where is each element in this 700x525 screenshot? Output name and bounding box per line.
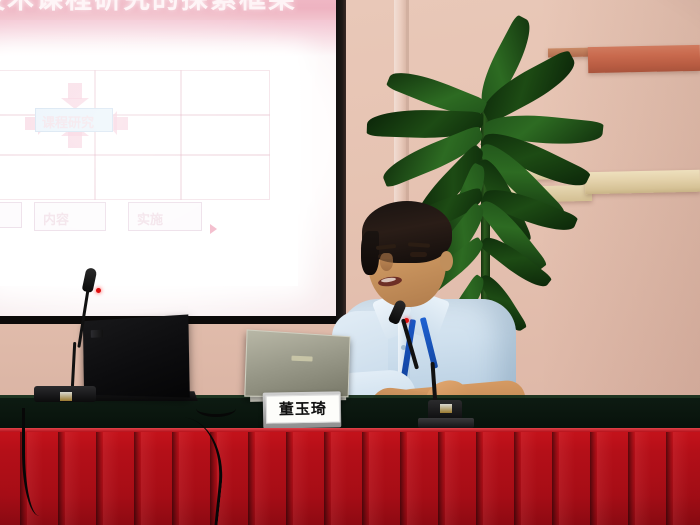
presenter-hair-side: [361, 231, 379, 275]
slide-title: 技术课程研究的探索框架: [0, 0, 297, 15]
nameplate-text: 董玉琦: [279, 401, 327, 417]
wall-band-red: [588, 45, 700, 73]
slide-bottom-label: 实施: [137, 209, 163, 228]
slide-light-wash: [0, 20, 336, 56]
nameplate-holder: 董玉琦: [263, 391, 342, 428]
slide-bottom-box: 实施: [128, 202, 202, 231]
thinkpad-logo-icon: [91, 330, 103, 338]
projection-screen: 技术课程研究的探索框架 课程研究: [0, 0, 336, 316]
presenter-eye-right: [410, 252, 427, 257]
cable: [196, 400, 236, 417]
slide-grid-cell: [0, 154, 96, 200]
wall-band-tan: [585, 170, 700, 195]
nameplate: 董玉琦: [266, 394, 340, 423]
slide-grid-cell: [180, 70, 270, 116]
microphone-led-icon: [96, 288, 101, 293]
red-tablecloth: [0, 428, 700, 525]
presenter-nose: [380, 253, 393, 271]
slide-diagram: 课程研究 内容 实施: [0, 56, 298, 286]
slide-play-triangle-icon: [210, 224, 217, 234]
slide-center-label: 课程研究: [42, 112, 94, 131]
microphone-base-plate: [418, 418, 474, 428]
slide-bottom-box: [0, 202, 22, 228]
microphone-base-badge: [60, 392, 72, 401]
microphone-base-badge: [440, 404, 452, 413]
slide-bottom-box: 内容: [34, 202, 106, 231]
black-laptop[interactable]: [83, 314, 190, 397]
table-top: [0, 398, 700, 432]
tablecloth-top-edge: [0, 428, 700, 432]
photo-scene: 技术课程研究的探索框架 课程研究: [0, 0, 700, 525]
slide-grid-cell: [180, 154, 270, 200]
slide-title-bar: 技术课程研究的探索框架: [0, 0, 336, 20]
slide-bottom-label: 内容: [43, 209, 69, 228]
slide-grid-cell: [94, 154, 182, 200]
presenter-ear: [440, 251, 453, 271]
slide-arrow-down-shaft: [68, 83, 82, 99]
silver-laptop[interactable]: [244, 329, 350, 397]
slide-grid-cell: [180, 114, 270, 156]
laptop-latch-icon: [291, 356, 312, 362]
slide-center-box: 课程研究: [35, 108, 113, 132]
